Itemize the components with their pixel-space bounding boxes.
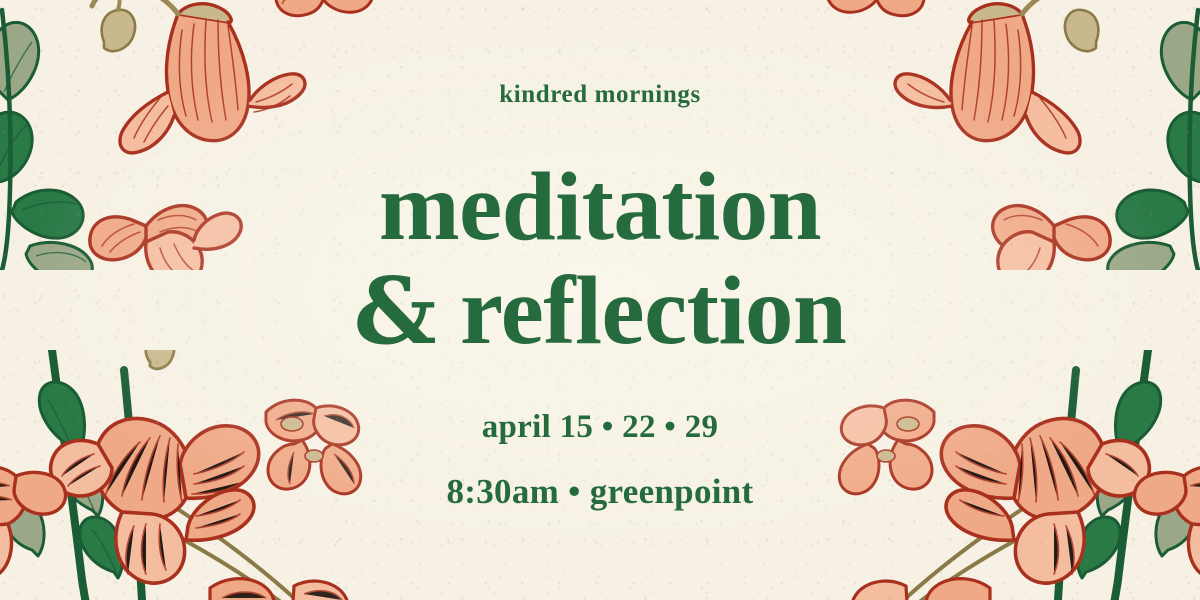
- poster-text-block: kindred mornings meditation & reflection…: [0, 0, 1200, 600]
- title-line-1: meditation: [379, 159, 821, 255]
- dates-text: april 15 • 22 • 29: [482, 411, 719, 444]
- eyebrow-text: kindred mornings: [499, 82, 701, 107]
- time-location-text: 8:30am • greenpoint: [446, 474, 753, 509]
- ampersand-glyph: &: [354, 257, 437, 365]
- title-line-2: & reflection: [354, 263, 847, 359]
- title-line-2-word: reflection: [460, 257, 846, 364]
- poster-canvas: kindred mornings meditation & reflection…: [0, 0, 1200, 600]
